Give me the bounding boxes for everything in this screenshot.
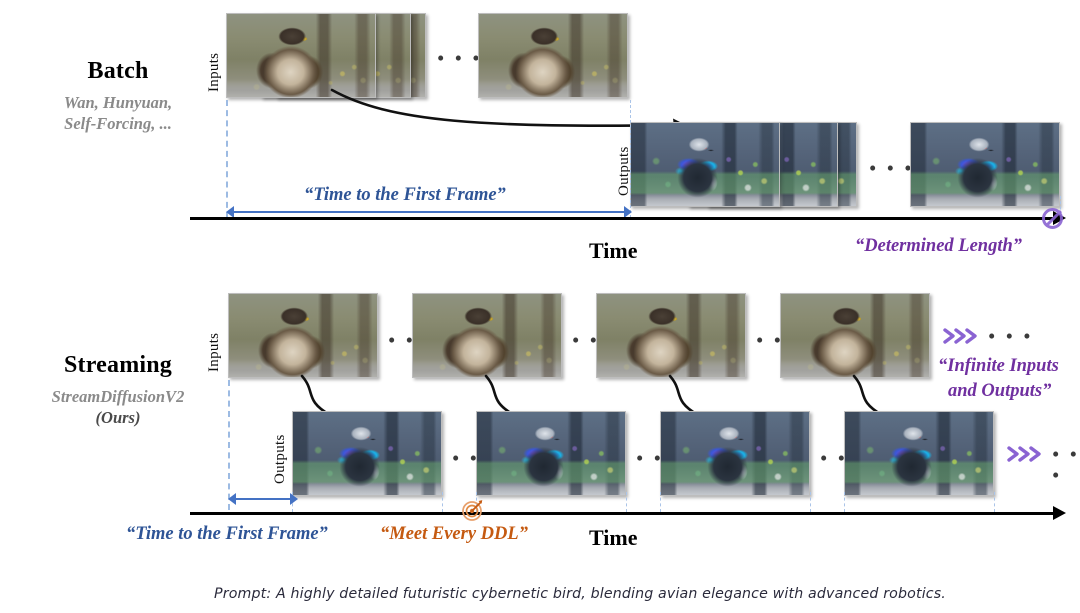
streaming-dashed-tick-7 (844, 492, 845, 512)
streaming-output-image-1 (293, 412, 441, 495)
streaming-ttff-arrow (228, 493, 298, 505)
row-title-streaming: Streaming StreamDiffusionV2 (Ours) (28, 352, 208, 428)
batch-ttff-arrow-bar (233, 211, 625, 213)
streaming-input-frame-4 (780, 293, 930, 378)
streaming-dashed-tick-2 (442, 492, 443, 512)
figure-canvas: Batch Wan, Hunyuan, Self-Forcing, ... In… (0, 0, 1080, 613)
prompt-text: Prompt: A highly detailed futuristic cyb… (214, 586, 946, 602)
batch-ttff-caption: “Time to the First Frame” (304, 185, 506, 206)
streaming-ttff-arrow-bar (235, 498, 291, 500)
streaming-input-frame-3 (596, 293, 746, 378)
batch-inputs-axis-label: Inputs (206, 53, 223, 92)
streaming-input-image-1 (229, 294, 377, 377)
batch-determined-length-caption: “Determined Length” (855, 236, 1022, 257)
row-title-batch-main: Batch (28, 58, 208, 85)
streaming-outputs-axis-label: Outputs (272, 434, 289, 484)
no-entry-icon (1042, 208, 1063, 229)
batch-input-image-1 (227, 14, 375, 97)
streaming-output-image-4 (845, 412, 993, 495)
streaming-input-image-3 (597, 294, 745, 377)
infinite-io-caption-line1: “Infinite Inputs (938, 356, 1059, 377)
streaming-output-image-2 (477, 412, 625, 495)
streaming-time-axis-arrowhead (1053, 506, 1066, 520)
streaming-output-image-3 (661, 412, 809, 495)
streaming-dashed-tick-5 (660, 492, 661, 512)
batch-dashed-start (226, 100, 228, 218)
row-title-streaming-sub: StreamDiffusionV2 (Ours) (28, 386, 208, 428)
chevrons-right-icon-inputs (942, 327, 982, 345)
streaming-ttff-arrow-right-head (290, 493, 298, 505)
streaming-input-frame-1 (228, 293, 378, 378)
streaming-inputs-axis-label: Inputs (206, 333, 223, 372)
streaming-input-frame-2 (412, 293, 562, 378)
batch-input-frame-1 (226, 13, 376, 98)
streaming-output-frame-4 (844, 411, 994, 496)
streaming-output-frame-2 (476, 411, 626, 496)
batch-dashed-output-start (630, 100, 631, 218)
streaming-time-axis (190, 512, 1055, 515)
streaming-ddl-caption: “Meet Every DDL” (380, 524, 528, 545)
streaming-ttff-caption: “Time to the First Frame” (126, 524, 328, 545)
target-icon (461, 498, 485, 522)
batch-time-axis-label: Time (589, 238, 637, 264)
batch-output-frame-last (910, 122, 1060, 207)
batch-input-ellipsis: • • • (437, 48, 482, 69)
row-title-batch-sub: Wan, Hunyuan, Self-Forcing, ... (28, 92, 208, 134)
streaming-dashed-tick-6 (810, 492, 811, 512)
batch-time-axis (190, 217, 1055, 220)
streaming-output-ellipsis-tail: • • • (1052, 444, 1080, 486)
row-title-batch: Batch Wan, Hunyuan, Self-Forcing, ... (28, 58, 208, 134)
streaming-output-frame-3 (660, 411, 810, 496)
streaming-dashed-start (228, 380, 230, 510)
batch-output-ellipsis: • • • (869, 158, 914, 179)
chevrons-right-icon-outputs (1006, 445, 1046, 463)
batch-output-frame-1 (630, 122, 780, 207)
streaming-dashed-tick-4 (626, 492, 627, 512)
batch-output-image-1 (631, 123, 779, 206)
row-title-streaming-main: Streaming (28, 352, 208, 379)
streaming-dashed-tick-8 (994, 492, 995, 512)
batch-input-frame-last (478, 13, 628, 98)
streaming-input-image-4 (781, 294, 929, 377)
streaming-time-axis-label: Time (589, 525, 637, 551)
batch-output-image-last (911, 123, 1059, 206)
streaming-output-frame-1 (292, 411, 442, 496)
streaming-input-ellipsis-tail: • • • (988, 326, 1033, 347)
batch-input-image-last (479, 14, 627, 97)
infinite-io-caption-line2: and Outputs” (948, 381, 1051, 402)
streaming-input-image-2 (413, 294, 561, 377)
